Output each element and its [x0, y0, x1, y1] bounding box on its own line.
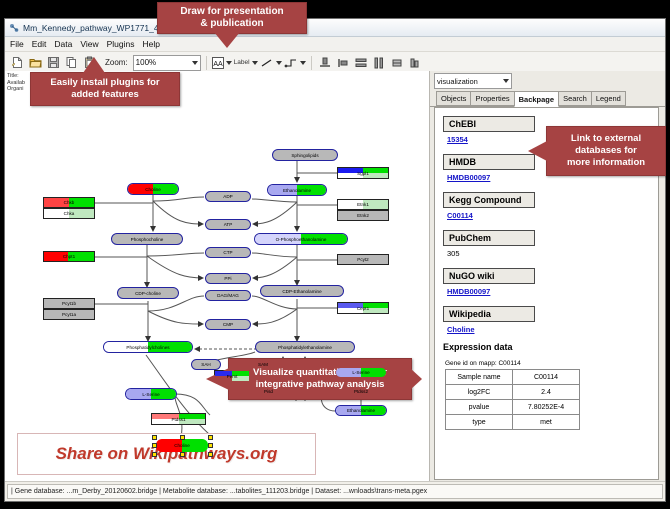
node-label: Ptdss1 [171, 417, 185, 422]
callout-plugins: Easily install plugins for added feature… [30, 72, 180, 106]
table-cell-value: met [513, 415, 580, 430]
tab-legend[interactable]: Legend [591, 91, 626, 106]
canvas-meta-organism: Organi [7, 86, 25, 93]
menu-item-file[interactable]: File [10, 39, 24, 49]
node-sphingolipids[interactable]: Sphingolipids [272, 149, 338, 161]
chevron-down-icon [300, 61, 306, 65]
node-label: Sphingolipids [291, 153, 318, 158]
node-label: CDP-choline [135, 291, 161, 296]
node-o-phosphoethanolamine[interactable]: O-Phosphoethanolamine [254, 233, 348, 245]
backpage-header-pubchem: PubChem [443, 230, 535, 246]
gene-pcyt2[interactable]: Pcyt2 [337, 254, 389, 265]
node-adp[interactable]: ADP [205, 191, 251, 202]
callout-plugins-arrow [83, 57, 105, 73]
callout-links-arrow [528, 141, 547, 161]
node-label: Etnk1 [357, 202, 369, 207]
node-choline-top[interactable]: Choline [127, 183, 179, 195]
gene-pcyt1a[interactable]: Pcyt1a [43, 309, 95, 320]
backpage-link-nugowiki[interactable]: HMDB00097 [447, 287, 650, 296]
node-phosphatidylethanolamine[interactable]: Phosphatidylethanolamine [255, 341, 355, 353]
zoom-combo[interactable]: 100% [133, 55, 201, 71]
table-cell-key: type [446, 415, 513, 430]
backpage-header-hmdb: HMDB [443, 154, 535, 170]
chevron-down-icon [503, 79, 509, 83]
node-label: Pemt [227, 374, 238, 379]
table-cell-key: pvalue [446, 400, 513, 415]
node-label: L-Serine [142, 392, 159, 397]
toolbar-separator [311, 56, 312, 70]
table-cell-value: C00114 [513, 370, 580, 385]
chevron-down-icon [226, 61, 232, 65]
copy-icon[interactable] [63, 55, 79, 71]
menu-bar: File Edit Data View Plugins Help [5, 37, 665, 52]
tab-backpage[interactable]: Backpage [514, 91, 559, 107]
status-bar: | Gene database: ...m_Derby_20120602.bri… [5, 481, 665, 501]
backpage-link-kegg[interactable]: C00114 [447, 211, 650, 220]
label-combo[interactable]: Label [234, 59, 258, 66]
node-label: SAM [258, 362, 268, 367]
backpage-value-pubchem: 305 [447, 249, 650, 258]
selection-handle[interactable] [152, 435, 157, 440]
label-combo-text: Label [234, 59, 250, 66]
selection-handle[interactable] [180, 452, 185, 457]
node-choline-selected[interactable]: Choline [155, 438, 209, 453]
table-cell-key: log2FC [446, 385, 513, 400]
zoom-value: 100% [136, 56, 156, 69]
node-label: CDP-Ethanolamine [282, 289, 321, 294]
callout-draw-arrow [214, 32, 240, 48]
node-label: Sgpl1 [357, 171, 369, 176]
node-label: Pcyt1a [62, 312, 76, 317]
menu-item-plugins[interactable]: Plugins [107, 39, 135, 49]
node-label: ADP [223, 194, 232, 199]
expression-table: Sample name C00114 log2FC 2.4 pvalue 7.8… [445, 369, 580, 430]
node-ethanolamine-top[interactable]: Ethanolamine [267, 184, 327, 196]
callout-visualize-arrow-right [410, 368, 422, 390]
pathway-canvas[interactable]: Title: Availab Organi [5, 71, 430, 482]
node-label: Chkb [64, 200, 75, 205]
node-ctp[interactable]: CTP [205, 247, 251, 258]
node-cdp-ethanolamine[interactable]: CDP-Ethanolamine [260, 285, 344, 297]
visualization-combo-value: visualization [437, 77, 478, 86]
backpage-header-chebi: ChEBI [443, 116, 535, 132]
node-label: Phosphocholine [131, 237, 164, 242]
callout-links-line2: databases for [575, 145, 637, 157]
table-row: type met [446, 415, 580, 430]
font-combo[interactable]: AA [212, 57, 232, 69]
menu-item-edit[interactable]: Edit [32, 39, 47, 49]
toolbar-separator [206, 56, 207, 70]
node-label: CTP [223, 250, 232, 255]
pathvisio-icon [9, 23, 19, 33]
callout-draw-line1: Draw for presentation [180, 6, 283, 18]
connector-tool[interactable] [284, 57, 306, 69]
node-label: Chpt1 [63, 254, 75, 259]
node-label: O-Phosphoethanolamine [276, 237, 327, 242]
node-label: SAH [201, 362, 210, 367]
backpage-header-kegg: Kegg Compound [443, 192, 535, 208]
align-left-icon[interactable] [335, 55, 351, 71]
tab-objects[interactable]: Objects [436, 91, 471, 106]
table-row: pvalue 7.80252E-4 [446, 400, 580, 415]
callout-draw: Draw for presentation & publication [157, 2, 307, 34]
status-text: | Gene database: ...m_Derby_20120602.bri… [11, 488, 427, 495]
expression-data-title: Expression data [443, 342, 650, 352]
align-bottom-icon[interactable] [317, 55, 333, 71]
chevron-down-icon [276, 61, 282, 65]
stack-icon[interactable] [407, 55, 423, 71]
save-icon[interactable] [45, 55, 61, 71]
side-pane-tabs: Objects Properties Backpage Search Legen… [430, 91, 665, 107]
screenshot-root: Mm_Kennedy_pathway_WP1771_45176.gpml Fil… [0, 0, 670, 509]
node-label: Pcyt1b [62, 301, 76, 306]
node-label: Ethanolamine [347, 408, 375, 413]
node-cmp[interactable]: CMP [205, 319, 251, 330]
menu-item-data[interactable]: Data [54, 39, 72, 49]
node-label: Chka [64, 211, 75, 216]
node-label: Phosphatidylcholines [126, 345, 169, 350]
visualization-combo[interactable]: visualization [434, 73, 512, 89]
callout-draw-line2: & publication [200, 18, 263, 30]
status-bar-inner: | Gene database: ...m_Derby_20120602.bri… [7, 484, 663, 499]
chevron-down-icon [252, 61, 258, 65]
node-label: L-Serine [352, 370, 369, 375]
gene-id-line: Gene id on mapp: C00114 [445, 360, 650, 367]
node-label: Etnk2 [357, 213, 369, 218]
node-label: CMP [223, 322, 233, 327]
backpage-header-wikipedia: Wikipedia [443, 306, 535, 322]
node-dag-mag[interactable]: DAG/MAG [205, 290, 251, 301]
gene-etnk1[interactable]: Etnk1 [337, 199, 389, 210]
callout-plugins-line2: added features [71, 89, 139, 101]
node-l-serine-left[interactable]: L-Serine [125, 388, 177, 400]
gene-sgpl1[interactable]: Sgpl1 [337, 167, 389, 179]
group-icon[interactable] [389, 55, 405, 71]
node-l-serine-right[interactable]: L-Serine [335, 367, 387, 378]
distribute-vertical-icon[interactable] [353, 55, 369, 71]
node-label: PPi [224, 276, 231, 281]
node-cdp-choline[interactable]: CDP-choline [117, 287, 179, 299]
node-phosphatidylcholines[interactable]: Phosphatidylcholines [103, 341, 193, 353]
callout-links: Link to external databases for more info… [546, 126, 666, 176]
node-label: Ethanolamine [283, 188, 311, 193]
node-ethanolamine-bottom[interactable]: Ethanolamine [335, 405, 387, 416]
gene-chkb[interactable]: Chkb [43, 197, 95, 208]
selection-handle[interactable] [208, 452, 213, 457]
callout-plugins-line1: Easily install plugins for [50, 77, 159, 89]
selection-handle[interactable] [208, 435, 213, 440]
menu-item-view[interactable]: View [80, 39, 98, 49]
table-cell-value: 7.80252E-4 [513, 400, 580, 415]
callout-links-line3: more information [567, 157, 645, 169]
gene-chka[interactable]: Chka [43, 208, 95, 219]
callout-links-line1: Link to external [571, 133, 641, 145]
backpage-header-nugowiki: NuGO wiki [443, 268, 535, 284]
selection-handle[interactable] [180, 435, 185, 440]
line-tool[interactable] [260, 57, 282, 69]
gene-cept1[interactable]: Cept1 [337, 302, 389, 314]
svg-text:AA: AA [213, 61, 223, 68]
gene-pcyt1b[interactable]: Pcyt1b [43, 298, 95, 309]
gene-chpt1-left[interactable]: Chpt1 [43, 251, 95, 262]
zoom-label: Zoom: [105, 58, 128, 67]
canvas-meta: Title: Availab Organi [7, 73, 25, 93]
node-label: Phosphatidylethanolamine [278, 345, 332, 350]
visualization-row: visualization [430, 71, 665, 91]
node-ppi[interactable]: PPi [205, 273, 251, 284]
distribute-horizontal-icon[interactable] [371, 55, 387, 71]
chevron-down-icon [192, 61, 198, 65]
gene-ptdss1[interactable]: Ptdss1 [151, 413, 206, 425]
tab-search[interactable]: Search [558, 91, 592, 106]
callout-visualize: Visualize quantitative data for integrat… [228, 358, 412, 400]
new-file-icon[interactable] [9, 55, 25, 71]
selection-handle[interactable] [152, 443, 157, 448]
backpage-link-wikipedia[interactable]: Choline [447, 325, 650, 334]
node-label: Cept1 [357, 306, 369, 311]
node-label: Pisd [264, 389, 273, 394]
gene-etnk2[interactable]: Etnk2 [337, 210, 389, 221]
node-label: Choline [145, 187, 161, 192]
node-label: Choline [174, 443, 190, 448]
menu-item-help[interactable]: Help [143, 39, 160, 49]
open-folder-icon[interactable] [27, 55, 43, 71]
tab-properties[interactable]: Properties [470, 91, 514, 106]
table-row: Sample name C00114 [446, 370, 580, 385]
table-cell-value: 2.4 [513, 385, 580, 400]
node-label: Ptdss2 [354, 389, 368, 394]
node-phosphocholine[interactable]: Phosphocholine [111, 233, 183, 245]
title-bar: Mm_Kennedy_pathway_WP1771_45176.gpml [5, 19, 665, 37]
node-label: ATP [224, 222, 233, 227]
selection-handle[interactable] [208, 443, 213, 448]
table-cell-key: Sample name [446, 370, 513, 385]
table-row: log2FC 2.4 [446, 385, 580, 400]
selection-handle[interactable] [152, 452, 157, 457]
node-atp[interactable]: ATP [205, 219, 251, 230]
node-label: Pcyt2 [357, 257, 369, 262]
node-label: DAG/MAG [217, 293, 239, 298]
